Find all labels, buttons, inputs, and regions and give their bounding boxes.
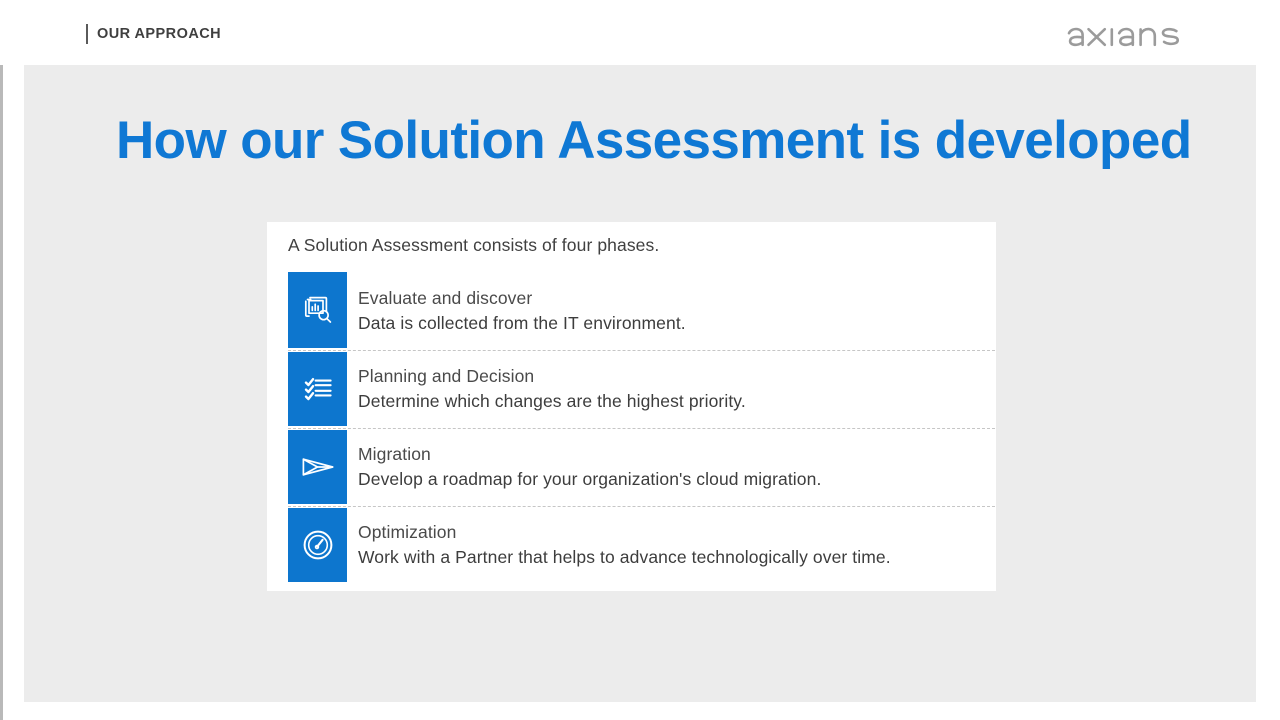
phase-text: Planning and Decision Determine which ch… [347,350,996,428]
phase-icon-tile [288,272,347,348]
card-lead-text: A Solution Assessment consists of four p… [288,235,659,256]
breadcrumb: OUR APPROACH [86,24,221,44]
eyebrow-label: OUR APPROACH [97,26,221,42]
phase-icon-tile [288,352,347,426]
phase-text: Optimization Work with a Partner that he… [347,506,996,584]
row-divider [288,428,995,429]
list-item[interactable]: Evaluate and discover Data is collected … [267,272,996,350]
paper-plane-icon [300,449,336,485]
phase-title: Optimization [358,520,996,545]
phase-title: Planning and Decision [358,364,996,389]
content-panel: How our Solution Assessment is developed… [24,65,1256,702]
phase-list: Evaluate and discover Data is collected … [267,272,996,584]
phase-description: Work with a Partner that helps to advanc… [358,545,996,570]
slide-header: OUR APPROACH [0,0,1280,65]
list-item[interactable]: Migration Develop a roadmap for your org… [267,428,996,506]
checklist-icon [301,372,335,406]
phase-text: Evaluate and discover Data is collected … [347,272,996,350]
left-edge-rail [0,0,3,720]
phases-card: A Solution Assessment consists of four p… [267,222,996,591]
gauge-icon [301,528,335,562]
phase-title: Evaluate and discover [358,286,996,311]
page-title: How our Solution Assessment is developed [116,112,1191,169]
phase-description: Determine which changes are the highest … [358,389,996,414]
row-divider [288,350,995,351]
list-item[interactable]: Optimization Work with a Partner that he… [267,506,996,584]
phase-description: Develop a roadmap for your organization'… [358,467,996,492]
row-divider [288,506,995,507]
phase-text: Migration Develop a roadmap for your org… [347,428,996,506]
axians-logo [1066,17,1202,53]
slide: OUR APPROACH [0,0,1280,720]
phase-description: Data is collected from the IT environmen… [358,311,996,336]
list-item[interactable]: Planning and Decision Determine which ch… [267,350,996,428]
phase-title: Migration [358,442,996,467]
phase-icon-tile [288,430,347,504]
phase-icon-tile [288,508,347,582]
report-search-icon [301,293,335,327]
eyebrow-divider-bar [86,24,88,44]
